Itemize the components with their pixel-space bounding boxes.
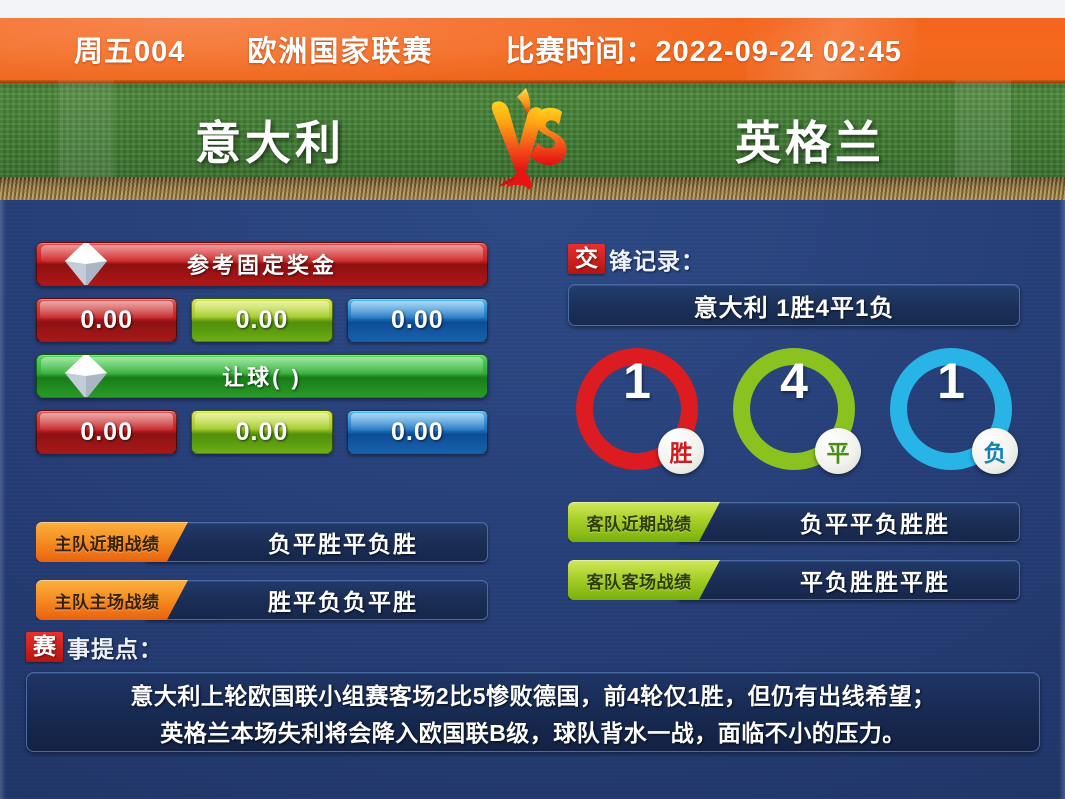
h2h-summary-box: 意大利 1胜4平1负 bbox=[568, 284, 1020, 326]
home-recent-form-row: 负平胜平负胜 主队近期战绩 bbox=[36, 522, 488, 562]
h2h-summary-text: 意大利 1胜4平1负 bbox=[694, 288, 895, 323]
fixed-bonus-title-bar[interactable]: 参考固定奖金 bbox=[36, 242, 488, 286]
home-home-form-label: 主队主场战绩 bbox=[55, 588, 160, 613]
away-recent-form-tag: 客队近期战绩 bbox=[568, 502, 720, 542]
match-header: 周五004 欧洲国家联赛 比赛时间：2022-09-24 02:45 bbox=[0, 18, 1065, 80]
h2h-lose-badge: 负 bbox=[972, 428, 1018, 474]
fixed-odds-draw[interactable]: 0.00 bbox=[191, 298, 332, 342]
home-home-form-value-box: 胜平负负平胜 bbox=[144, 580, 488, 620]
h2h-rings: 1 胜 4 平 1 负 bbox=[568, 348, 1020, 470]
header-row: 周五004 欧洲国家联赛 比赛时间：2022-09-24 02:45 bbox=[0, 28, 1065, 70]
away-recent-form-row: 负平平负胜胜 客队近期战绩 bbox=[568, 502, 1020, 542]
board-left-edge bbox=[0, 200, 6, 799]
handicap-odds-win[interactable]: 0.00 bbox=[36, 410, 177, 454]
away-recent-form-value: 负平平负胜胜 bbox=[800, 505, 950, 539]
fixed-odds-draw-value: 0.00 bbox=[236, 306, 289, 335]
home-recent-form-value: 负平胜平负胜 bbox=[268, 525, 418, 559]
away-away-form-row: 平负胜胜平胜 客队客场战绩 bbox=[568, 560, 1020, 600]
diamond-icon bbox=[63, 354, 109, 398]
h2h-ring-draw: 4 平 bbox=[733, 348, 855, 470]
away-away-form-value-box: 平负胜胜平胜 bbox=[676, 560, 1020, 600]
h2h-heading: 交 锋记录： bbox=[568, 242, 1020, 276]
h2h-lose-count: 1 bbox=[890, 354, 1012, 409]
fixed-odds-win[interactable]: 0.00 bbox=[36, 298, 177, 342]
kickoff-time-label: 比赛时间：2022-09-24 02:45 bbox=[505, 28, 902, 70]
odds-column: 参考固定奖金 0.00 0.00 0.00 让球( ) 0.00 0.00 bbox=[36, 242, 488, 620]
fixed-odds-lose[interactable]: 0.00 bbox=[347, 298, 488, 342]
away-recent-form-label: 客队近期战绩 bbox=[587, 510, 692, 535]
home-recent-form-value-box: 负平胜平负胜 bbox=[144, 522, 488, 562]
home-recent-form-label: 主队近期战绩 bbox=[55, 530, 160, 555]
analysis-section: 赛 事提点： 意大利上轮欧国联小组赛客场2比5惨败德国，前4轮仅1胜，但仍有出线… bbox=[26, 630, 1040, 752]
h2h-heading-text: 锋记录： bbox=[609, 242, 705, 276]
analysis-line-1: 意大利上轮欧国联小组赛客场2比5惨败德国，前4轮仅1胜，但仍有出线希望； bbox=[130, 677, 935, 711]
h2h-heading-chip: 交 bbox=[568, 244, 605, 274]
board-right-edge bbox=[1059, 200, 1065, 799]
analysis-line-2: 英格兰本场失利将会降入欧国联B级，球队背水一战，面临不小的压力。 bbox=[160, 714, 906, 748]
analysis-heading-text: 事提点： bbox=[67, 630, 163, 664]
home-home-form-value: 胜平负负平胜 bbox=[268, 583, 418, 617]
h2h-draw-count: 4 bbox=[733, 354, 855, 409]
fixed-odds-win-value: 0.00 bbox=[80, 306, 133, 335]
league-name-label: 欧洲国家联赛 bbox=[247, 28, 433, 70]
diamond-icon bbox=[63, 242, 109, 286]
h2h-column: 交 锋记录： 意大利 1胜4平1负 1 胜 4 平 bbox=[568, 242, 1020, 600]
analysis-heading: 赛 事提点： bbox=[26, 630, 1040, 664]
h2h-ring-win: 1 胜 bbox=[576, 348, 698, 470]
fixed-bonus-title: 参考固定奖金 bbox=[187, 248, 337, 280]
handicap-odds-win-value: 0.00 bbox=[80, 418, 133, 447]
home-home-form-row: 胜平负负平胜 主队主场战绩 bbox=[36, 580, 488, 620]
handicap-odds-lose[interactable]: 0.00 bbox=[347, 410, 488, 454]
analysis-heading-chip: 赛 bbox=[26, 632, 63, 662]
spacer bbox=[568, 470, 1020, 484]
spacer bbox=[36, 466, 488, 504]
away-away-form-tag: 客队客场战绩 bbox=[568, 560, 720, 600]
handicap-odds-lose-value: 0.00 bbox=[391, 418, 444, 447]
home-recent-form-tag: 主队近期战绩 bbox=[36, 522, 188, 562]
home-home-form-tag: 主队主场战绩 bbox=[36, 580, 188, 620]
h2h-draw-badge: 平 bbox=[815, 428, 861, 474]
away-away-form-label: 客队客场战绩 bbox=[587, 568, 692, 593]
handicap-title-bar[interactable]: 让球( ) bbox=[36, 354, 488, 398]
handicap-odds-row: 0.00 0.00 0.00 bbox=[36, 410, 488, 454]
handicap-odds-draw[interactable]: 0.00 bbox=[191, 410, 332, 454]
h2h-ring-lose: 1 负 bbox=[890, 348, 1012, 470]
analysis-text-box: 意大利上轮欧国联小组赛客场2比5惨败德国，前4轮仅1胜，但仍有出线希望； 英格兰… bbox=[26, 672, 1040, 752]
away-away-form-value: 平负胜胜平胜 bbox=[800, 563, 950, 597]
match-round-label: 周五004 bbox=[74, 28, 185, 70]
h2h-win-badge: 胜 bbox=[658, 428, 704, 474]
h2h-win-count: 1 bbox=[576, 354, 698, 409]
match-preview-screen: 周五004 欧洲国家联赛 比赛时间：2022-09-24 02:45 意大利 英… bbox=[0, 0, 1065, 799]
pitch-dirt-edge bbox=[0, 177, 1065, 200]
fixed-odds-lose-value: 0.00 bbox=[391, 306, 444, 335]
pitch-banner: 意大利 英格兰 bbox=[0, 80, 1065, 200]
info-board: 参考固定奖金 0.00 0.00 0.00 让球( ) 0.00 0.00 bbox=[0, 200, 1065, 799]
handicap-odds-draw-value: 0.00 bbox=[236, 418, 289, 447]
fixed-odds-row: 0.00 0.00 0.00 bbox=[36, 298, 488, 342]
away-recent-form-value-box: 负平平负胜胜 bbox=[676, 502, 1020, 542]
handicap-title: 让球( ) bbox=[222, 360, 302, 392]
